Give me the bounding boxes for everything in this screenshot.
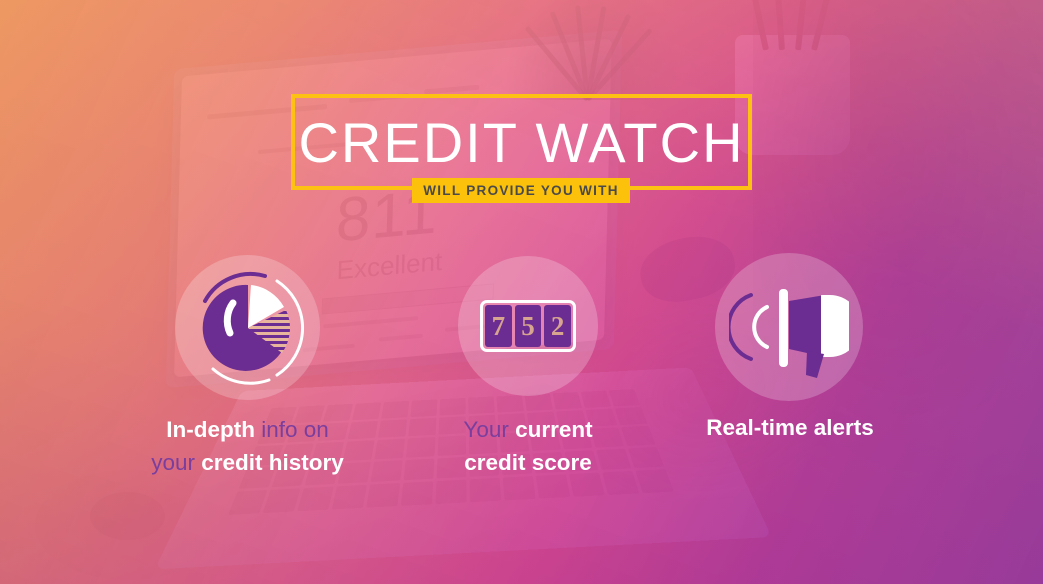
feature-caption-credit-history: In-depth info on your credit history <box>135 413 360 479</box>
slide-canvas: 811 Excellent <box>0 0 1043 584</box>
subtitle-text: WILL PROVIDE YOU WITH <box>423 183 619 198</box>
caption-bold-1: current <box>515 417 593 442</box>
feature-caption-real-time-alerts: Real-time alerts <box>690 411 890 444</box>
caption-bold-1: In-depth <box>166 417 255 442</box>
caption-bold-1: Real-time alerts <box>706 415 874 440</box>
score-digit: 7 <box>485 305 512 347</box>
subtitle-band: WILL PROVIDE YOU WITH <box>412 178 630 203</box>
caption-bold-2: credit history <box>201 450 344 475</box>
score-digits-icon: 7 5 2 <box>480 300 576 352</box>
caption-accent-1: Your <box>463 417 515 442</box>
caption-bold-2: credit score <box>464 450 592 475</box>
caption-accent-2: your <box>151 450 201 475</box>
feature-caption-credit-score: Your current credit score <box>428 413 628 479</box>
score-digit: 5 <box>515 305 542 347</box>
megaphone-icon <box>729 275 849 380</box>
pie-chart-icon <box>183 263 313 393</box>
page-title: CREDIT WATCH <box>291 94 752 190</box>
caption-accent-1: info on <box>255 417 329 442</box>
score-digit: 2 <box>544 305 571 347</box>
